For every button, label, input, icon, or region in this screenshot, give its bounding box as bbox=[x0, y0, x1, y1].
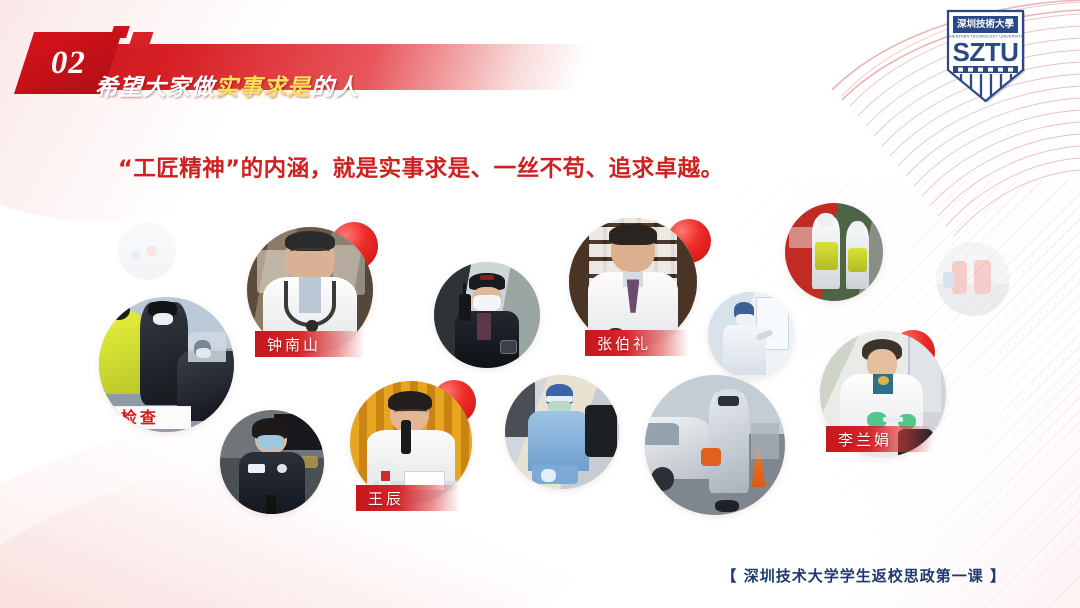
n95-mask bbox=[473, 295, 501, 312]
lapel-pin bbox=[277, 464, 286, 473]
svg-text:SZTU: SZTU bbox=[953, 37, 1019, 67]
photo-zhang-boli bbox=[569, 218, 697, 346]
hair bbox=[609, 224, 658, 244]
photo-caption: 钟南山 bbox=[255, 334, 321, 355]
necktie bbox=[477, 313, 491, 341]
photo-image bbox=[118, 222, 176, 280]
section-title-highlight: 实事求是 bbox=[215, 75, 311, 101]
officer-mask bbox=[153, 313, 173, 325]
namebar-zhang-boli: 张伯礼 bbox=[585, 330, 689, 356]
walkie-antenna bbox=[463, 283, 466, 296]
section-title-part-1: 希望大家做 bbox=[95, 75, 215, 101]
car-window bbox=[645, 423, 679, 445]
lattice-frame-right bbox=[677, 218, 697, 346]
section-title: 希望大家做实事求是的人 bbox=[95, 68, 359, 102]
page-title: “工匠精神”的内涵，就是实事求是、一丝不苟、追求卓越。 bbox=[118, 151, 724, 183]
blue-ppe-gown bbox=[528, 411, 590, 470]
bottle-label bbox=[381, 471, 391, 481]
face-mask bbox=[257, 435, 284, 450]
photo-caption: 李兰娟 bbox=[826, 429, 892, 450]
boots bbox=[715, 500, 739, 513]
slide-canvas: 02 希望大家做实事求是的人 深圳技術大學 SHENZHEN TECHNOLOG… bbox=[0, 0, 1080, 608]
photo-reporter-mask bbox=[220, 410, 324, 514]
photo-travelers-luggage bbox=[118, 222, 176, 280]
press-badge bbox=[248, 464, 265, 473]
microphone bbox=[401, 420, 411, 454]
pipette bbox=[883, 417, 903, 422]
photo-caption: 王辰 bbox=[356, 488, 404, 509]
monitor bbox=[585, 405, 617, 457]
blue-sign bbox=[943, 272, 953, 288]
reflective-vest-back bbox=[848, 248, 868, 272]
namebar-li-lanjuan: 李兰娟 bbox=[826, 426, 934, 452]
section-number: 02 bbox=[51, 45, 86, 82]
namebar-zhong-nanshan: 钟南山 bbox=[255, 331, 365, 357]
namebar-wang-chen: 王辰 bbox=[356, 485, 460, 511]
hood-front bbox=[817, 213, 835, 227]
volunteer-right-vest bbox=[974, 260, 990, 294]
university-logo: 深圳技術大學 SHENZHEN TECHNOLOGY UNIVERSITY SZ… bbox=[944, 8, 1027, 104]
photo-nurse-writing bbox=[708, 292, 794, 378]
photo-transit-officer bbox=[434, 262, 540, 368]
footer-text: 【 深圳技术大学学生返校思政第一课 】 bbox=[722, 565, 1006, 586]
gloved-hand bbox=[541, 469, 556, 483]
photo-disinfection-worker bbox=[645, 375, 785, 515]
cap-band bbox=[480, 275, 495, 280]
face-mask bbox=[736, 314, 755, 325]
uniform-patch bbox=[500, 340, 517, 354]
photo-volunteers-red-vest bbox=[936, 242, 1010, 316]
photo-police-checkpoint: 检查 bbox=[99, 297, 234, 432]
walkie-talkie bbox=[459, 294, 471, 322]
reflective-vest-front bbox=[815, 242, 838, 269]
photo-supply-truck-workers bbox=[785, 203, 883, 301]
goggles bbox=[718, 396, 739, 406]
glasses bbox=[394, 409, 428, 416]
stethoscope-chestpiece bbox=[306, 320, 317, 331]
photo-caption: 张伯礼 bbox=[585, 333, 651, 354]
white-gown bbox=[723, 325, 766, 375]
photo-lab-technician bbox=[505, 375, 619, 489]
orange-sprayer bbox=[701, 448, 721, 466]
driver-mask bbox=[196, 348, 211, 357]
microphone bbox=[266, 495, 276, 514]
toll-booth bbox=[751, 423, 779, 459]
glasses bbox=[290, 248, 330, 257]
volunteer-left-vest bbox=[952, 261, 967, 294]
officer-helmet bbox=[107, 300, 130, 320]
section-title-part-2: 的人 bbox=[311, 75, 359, 101]
inspection-banner: 检查 bbox=[99, 406, 191, 429]
lattice-frame-left bbox=[569, 218, 589, 346]
section-header-banner: 02 希望大家做实事求是的人 bbox=[0, 22, 640, 96]
svg-text:深圳技術大學: 深圳技術大學 bbox=[957, 18, 1015, 30]
